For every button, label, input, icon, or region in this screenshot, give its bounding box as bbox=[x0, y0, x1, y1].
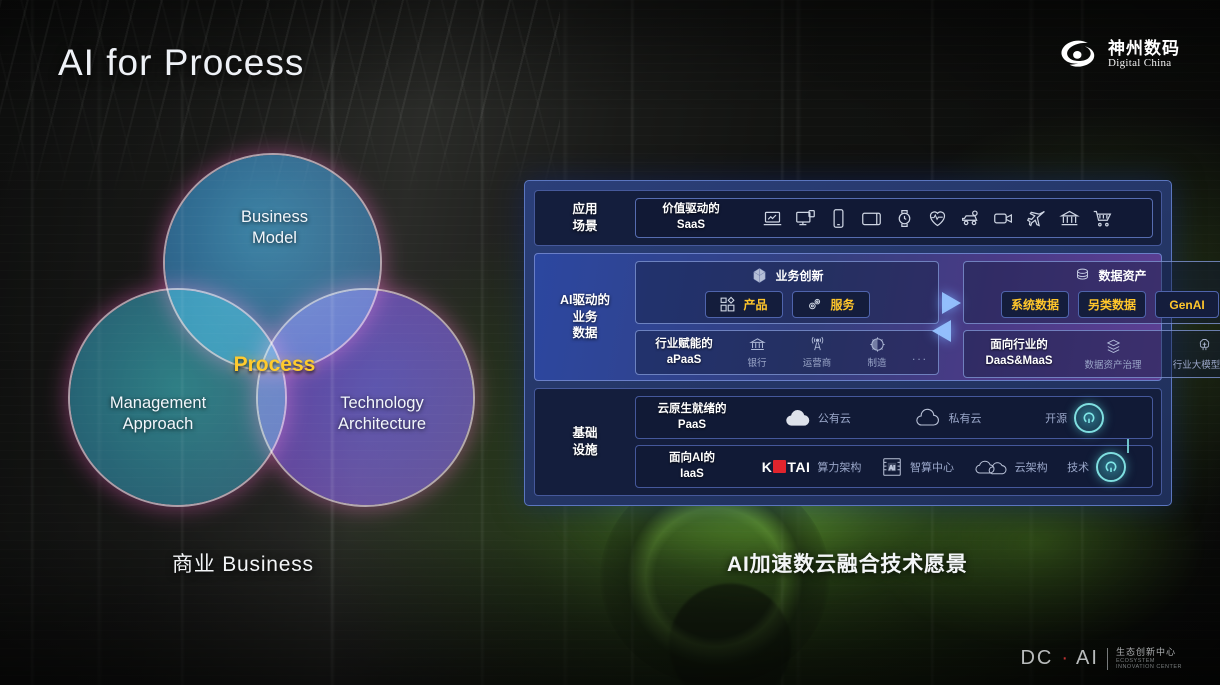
cube-cluster-icon bbox=[751, 267, 768, 284]
chip-service-label: 服务 bbox=[830, 296, 854, 313]
footer-ai: AI bbox=[1076, 647, 1099, 670]
iaas-item-ai-computing-center: AI 智算中心 bbox=[881, 456, 954, 478]
paas-row: 云原生就绪的 PaaS 公有云 私有云 开源 bbox=[635, 396, 1153, 439]
paas-badge-group: 开源 bbox=[1045, 403, 1104, 433]
sector-industry-llm: 行业大模型AI bbox=[1162, 336, 1220, 372]
iaas-item-cloud-architecture-label: 云架构 bbox=[1015, 459, 1048, 475]
paas-item-public-cloud: 公有云 bbox=[784, 407, 851, 429]
sector-carrier: 运营商 bbox=[792, 336, 842, 369]
footer-dot: · bbox=[1061, 647, 1068, 670]
business-innovation-title: 业务创新 bbox=[776, 267, 824, 284]
sector-carrier-label: 运营商 bbox=[803, 355, 832, 369]
brand-name-cn: 神州数码 bbox=[1108, 40, 1180, 58]
daas-maas-title: 面向行业的 DaaS&MaaS bbox=[974, 338, 1064, 369]
business-innovation-box: 业务创新 产品 服务 bbox=[635, 261, 939, 324]
footer-name-en-line1: ECOSYSTEM bbox=[1116, 658, 1182, 665]
iaas-title-line2: IaaS bbox=[680, 468, 704, 480]
saas-title: 价值驱动的 SaaS bbox=[648, 202, 734, 233]
iaas-items: KTAI 算力架构 AI 智算中心 云架构 技术 bbox=[746, 452, 1142, 482]
band-label-ai-line2: 业务 bbox=[572, 310, 597, 324]
apaas-title: 行业赋能的 aPaaS bbox=[646, 337, 722, 368]
blocks-icon bbox=[719, 296, 736, 313]
band-label-infrastructure: 基础 设施 bbox=[535, 389, 635, 495]
band-infrastructure: 基础 设施 云原生就绪的 PaaS 公有云 bbox=[534, 388, 1162, 496]
saas-title-line2: SaaS bbox=[677, 219, 705, 231]
iaas-badge-group: 技术 bbox=[1067, 452, 1126, 482]
iaas-item-compute-architecture-label: 算力架构 bbox=[817, 459, 861, 475]
brand-logo: 神州数码 Digital China bbox=[1057, 36, 1180, 74]
chip-genai[interactable]: GenAI bbox=[1155, 291, 1219, 318]
chip-system-data-label: 系统数据 bbox=[1011, 296, 1059, 313]
architecture-panel: 应用 场景 价值驱动的 SaaS bbox=[524, 180, 1172, 506]
heartbeat-icon bbox=[927, 208, 948, 229]
sector-data-governance-label: 数据资产治理 bbox=[1085, 357, 1142, 371]
daas-maas-title-line1: 面向行业的 bbox=[990, 339, 1048, 351]
band-label-ai-line1: AI驱动的 bbox=[560, 293, 610, 307]
paas-badge-label: 开源 bbox=[1045, 410, 1067, 426]
venn-label-process: Process bbox=[202, 353, 347, 377]
car-icon bbox=[960, 208, 981, 229]
data-asset-chips: 系统数据 另类数据 GenAI bbox=[974, 291, 1220, 318]
sector-industry-llm-label: 行业大模型AI bbox=[1173, 355, 1220, 372]
bidirectional-arrows bbox=[923, 254, 969, 380]
paas-items: 公有云 私有云 开源 bbox=[746, 403, 1142, 433]
shopping-cart-icon bbox=[1092, 208, 1113, 229]
footer-dc: DC bbox=[1020, 647, 1053, 670]
data-asset-box: 数据资产 系统数据 另类数据 GenAI bbox=[963, 261, 1220, 324]
caption-architecture: AI加速数云融合技术愿景 bbox=[727, 548, 968, 578]
iaas-badge-label: 技术 bbox=[1067, 459, 1089, 475]
data-asset-column: 数据资产 系统数据 另类数据 GenAI 面向行业的 DaaS&MaaS bbox=[951, 254, 1220, 380]
business-innovation-header: 业务创新 bbox=[751, 267, 824, 284]
chip-genai-label: GenAI bbox=[1169, 298, 1204, 312]
band-label-infra-line2: 设施 bbox=[572, 443, 597, 457]
cloud-filled-icon bbox=[784, 407, 811, 429]
smartphone-icon bbox=[828, 208, 849, 229]
gears-icon bbox=[806, 296, 823, 313]
apaas-box: 行业赋能的 aPaaS 银行 运营商 制造 bbox=[635, 330, 939, 375]
airplane-icon bbox=[1026, 208, 1047, 229]
laptop-icon bbox=[762, 208, 783, 229]
band-label-application-scenarios: 应用 场景 bbox=[535, 191, 635, 245]
band-label-ai-driven-business-data: AI驱动的 业务 数据 bbox=[535, 254, 635, 380]
sector-bank: 银行 bbox=[732, 336, 782, 369]
daas-maas-box: 面向行业的 DaaS&MaaS 数据资产治理 行业大模型AI bbox=[963, 330, 1220, 378]
band-application-scenarios: 应用 场景 价值驱动的 SaaS bbox=[534, 190, 1162, 246]
chip-alternative-data[interactable]: 另类数据 bbox=[1078, 291, 1146, 318]
business-innovation-chips: 产品 服务 bbox=[646, 291, 928, 318]
band-label-app-line2: 场景 bbox=[572, 219, 597, 233]
sector-manufacturing: 制造 bbox=[852, 336, 902, 369]
brain-chip-icon bbox=[1196, 336, 1213, 353]
sector-bank-label: 银行 bbox=[747, 355, 766, 369]
opensource-icon[interactable] bbox=[1096, 452, 1126, 482]
paas-title-line1: 云原生就绪的 bbox=[658, 403, 727, 415]
kutai-logo-a: K bbox=[762, 459, 773, 475]
opensource-icon[interactable] bbox=[1074, 403, 1104, 433]
ai-datacenter-icon: AI bbox=[881, 456, 903, 478]
gear-moon-icon bbox=[869, 336, 886, 353]
apaas-title-line2: aPaaS bbox=[667, 354, 702, 366]
smartwatch-icon bbox=[894, 208, 915, 229]
kutai-logo-b: TAI bbox=[787, 459, 810, 475]
venn-circle-management-approach bbox=[70, 290, 285, 505]
kutai-logo-icon: KTAI bbox=[762, 459, 811, 475]
brand-name-en: Digital China bbox=[1108, 58, 1180, 70]
video-camera-icon bbox=[993, 208, 1014, 229]
data-asset-header: 数据资产 bbox=[1074, 267, 1147, 284]
band-label-app-line1: 应用 bbox=[572, 202, 597, 216]
database-icon bbox=[1074, 267, 1091, 284]
clouds-icon bbox=[974, 456, 1008, 478]
iaas-row: 面向AI的 IaaS KTAI 算力架构 AI 智算中心 bbox=[635, 445, 1153, 488]
iaas-title-line1: 面向AI的 bbox=[669, 452, 715, 464]
bank-icon bbox=[749, 336, 766, 353]
chip-service[interactable]: 服务 bbox=[792, 291, 870, 318]
data-asset-title: 数据资产 bbox=[1099, 267, 1147, 284]
band-ai-driven-business-data: AI驱动的 业务 数据 业务创新 产品 bbox=[534, 253, 1162, 381]
chip-system-data[interactable]: 系统数据 bbox=[1001, 291, 1069, 318]
saas-title-line1: 价值驱动的 bbox=[662, 203, 720, 215]
chip-product[interactable]: 产品 bbox=[705, 291, 783, 318]
iaas-item-cloud-architecture: 云架构 bbox=[974, 456, 1048, 478]
arrow-right-icon bbox=[942, 292, 961, 314]
paas-item-public-cloud-label: 公有云 bbox=[818, 410, 851, 426]
paas-title: 云原生就绪的 PaaS bbox=[646, 402, 738, 433]
venn-diagram: Business Model Management Approach Techn… bbox=[62, 155, 462, 520]
signal-tower-icon bbox=[809, 336, 826, 353]
svg-text:AI: AI bbox=[889, 464, 896, 471]
iaas-item-ai-computing-center-label: 智算中心 bbox=[910, 459, 954, 475]
iaas-item-compute-architecture: KTAI 算力架构 bbox=[762, 459, 862, 475]
caption-business: 商业 Business bbox=[172, 548, 314, 578]
footer-name-cn: 生态创新中心 bbox=[1116, 647, 1182, 658]
slide-canvas: AI for Process 神州数码 Digital China Busine… bbox=[0, 0, 1220, 685]
badge-connector-line bbox=[1127, 439, 1129, 453]
footer-divider bbox=[1107, 648, 1108, 670]
band-label-infra-line1: 基础 bbox=[572, 426, 597, 440]
daas-maas-title-line2: DaaS&MaaS bbox=[985, 355, 1052, 367]
cloud-outline-icon bbox=[914, 407, 941, 429]
venn-circle-technology-architecture bbox=[258, 290, 473, 505]
sector-manufacturing-label: 制造 bbox=[867, 355, 886, 369]
chip-alternative-data-label: 另类数据 bbox=[1088, 296, 1136, 313]
paas-item-private-cloud-label: 私有云 bbox=[948, 410, 981, 426]
application-icon-strip bbox=[748, 208, 1140, 229]
bank-icon bbox=[1059, 208, 1080, 229]
tablet-icon bbox=[861, 208, 882, 229]
arrow-left-icon bbox=[932, 320, 951, 342]
chip-product-label: 产品 bbox=[743, 296, 767, 313]
footer-logo: DC · AI 生态创新中心 ECOSYSTEM INNOVATION CENT… bbox=[1020, 647, 1182, 671]
footer-name-en-line2: INNOVATION CENTER bbox=[1116, 664, 1182, 671]
sector-data-governance: 数据资产治理 bbox=[1074, 338, 1152, 371]
page-title: AI for Process bbox=[58, 42, 304, 84]
saas-box: 价值驱动的 SaaS bbox=[635, 198, 1153, 238]
iaas-title: 面向AI的 IaaS bbox=[646, 451, 738, 482]
desktop-monitor-icon bbox=[795, 208, 816, 229]
paas-title-line2: PaaS bbox=[678, 419, 706, 431]
swirl-logo-icon bbox=[1057, 36, 1099, 74]
business-innovation-column: 业务创新 产品 服务 bbox=[635, 254, 951, 380]
paas-item-private-cloud: 私有云 bbox=[914, 407, 981, 429]
apaas-title-line1: 行业赋能的 bbox=[655, 338, 713, 350]
band-label-ai-line3: 数据 bbox=[572, 326, 597, 340]
layered-data-icon bbox=[1105, 338, 1122, 355]
